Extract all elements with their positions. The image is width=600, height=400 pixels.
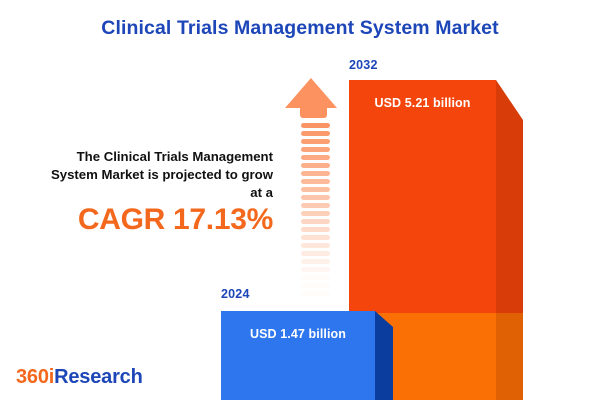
arrow-neck-icon	[300, 107, 327, 118]
arrow-segment	[301, 243, 330, 248]
arrow-segment	[301, 275, 330, 280]
bar-value-2032: USD 5.21 billion	[349, 96, 496, 110]
arrow-segment	[301, 235, 330, 240]
growth-arrow-icon	[285, 78, 341, 296]
arrow-segment	[301, 179, 330, 184]
arrow-segment	[301, 147, 330, 152]
arrow-segment	[301, 131, 330, 136]
arrow-segment	[301, 139, 330, 144]
arrow-segment	[301, 291, 330, 296]
arrow-segment	[301, 195, 330, 200]
arrow-segment	[301, 267, 330, 272]
arrow-segment	[301, 187, 330, 192]
infographic-canvas: Clinical Trials Management System Market…	[0, 0, 600, 400]
bar-2032-side-lower	[496, 313, 523, 400]
arrow-segment	[301, 155, 330, 160]
page-title: Clinical Trials Management System Market	[0, 17, 600, 40]
bar-2032-side	[496, 80, 523, 313]
arrow-segment	[301, 227, 330, 232]
arrow-segment	[301, 203, 330, 208]
statement-line-1: The Clinical Trials Management	[8, 148, 273, 166]
bar-2024-face	[221, 311, 375, 400]
brand-logo-research: Research	[54, 366, 142, 388]
statement-line-2: System Market is projected to grow	[8, 166, 273, 184]
bar-label-2032: 2032	[349, 58, 378, 72]
arrow-segment	[301, 211, 330, 216]
arrow-segment	[301, 171, 330, 176]
bar-2032-face	[349, 80, 496, 313]
arrow-segment	[301, 163, 330, 168]
statement-line-3: at a	[8, 184, 273, 202]
arrow-head-icon	[285, 78, 337, 108]
arrow-segment	[301, 283, 330, 288]
brand-logo: 360iResearch	[16, 366, 143, 389]
bar-label-2024: 2024	[221, 287, 250, 301]
brand-logo-360i: 360i	[16, 366, 54, 388]
arrow-segment	[301, 219, 330, 224]
cagr-value: CAGR 17.13%	[8, 203, 273, 237]
arrow-segment	[301, 251, 330, 256]
bar-value-2024: USD 1.47 billion	[221, 327, 375, 341]
statement-text: The Clinical Trials Management System Ma…	[8, 148, 273, 202]
arrow-segment	[301, 259, 330, 264]
arrow-segment	[301, 123, 330, 128]
